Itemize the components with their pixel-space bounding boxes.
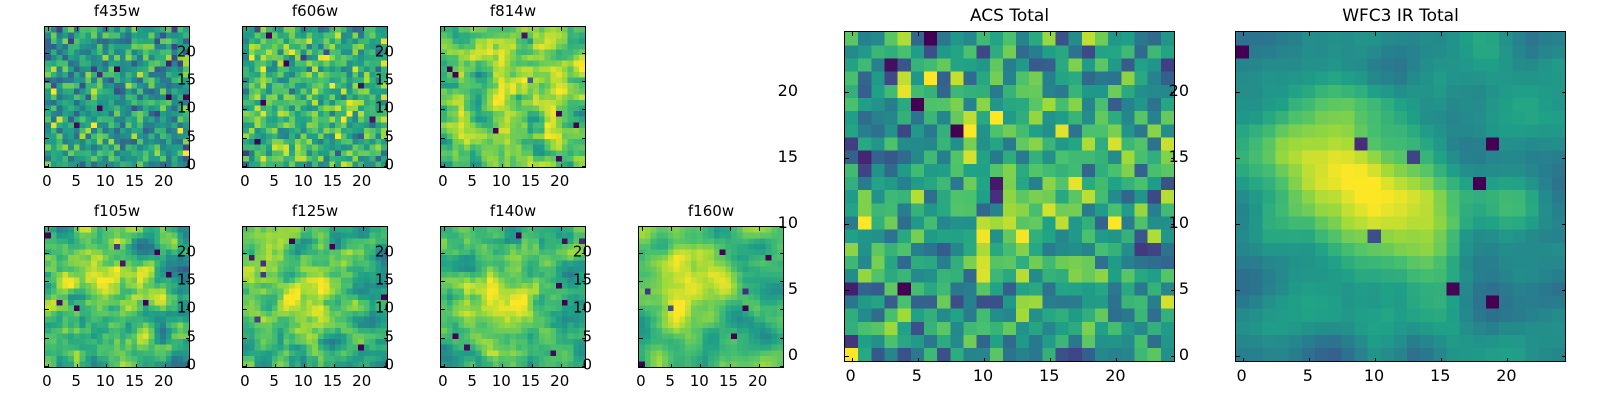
x-tick-mark bbox=[275, 227, 276, 231]
y-tick-label: 5 bbox=[1155, 281, 1189, 297]
y-tick-label: 20 bbox=[558, 244, 592, 259]
x-tick-mark bbox=[1243, 32, 1244, 36]
y-tick-mark bbox=[441, 281, 445, 282]
y-tick-mark bbox=[582, 53, 586, 54]
y-tick-mark bbox=[780, 366, 784, 367]
y-tick-mark bbox=[45, 366, 49, 367]
y-tick-mark bbox=[441, 138, 445, 139]
y-tick-label: 20 bbox=[1155, 83, 1189, 99]
x-tick-mark bbox=[473, 227, 474, 231]
x-tick-label: 15 bbox=[719, 374, 738, 389]
y-tick-label: 10 bbox=[558, 301, 592, 316]
y-tick-mark bbox=[780, 253, 784, 254]
y-tick-label: 20 bbox=[360, 44, 394, 59]
x-tick-label: 0 bbox=[846, 368, 856, 384]
x-tick-mark bbox=[502, 364, 503, 368]
x-tick-mark bbox=[275, 164, 276, 168]
plot-area-f814w bbox=[440, 26, 586, 168]
x-tick-label: 15 bbox=[323, 374, 342, 389]
x-tick-mark bbox=[532, 364, 533, 368]
y-tick-mark bbox=[45, 281, 49, 282]
y-tick-label: 0 bbox=[162, 158, 196, 173]
x-tick-label: 15 bbox=[1039, 368, 1059, 384]
y-tick-label: 0 bbox=[1155, 347, 1189, 363]
x-tick-label: 15 bbox=[125, 374, 144, 389]
panel-title-f125w: f125w bbox=[242, 204, 388, 219]
y-tick-label: 15 bbox=[1155, 149, 1189, 165]
y-tick-label: 10 bbox=[162, 101, 196, 116]
x-tick-mark bbox=[363, 27, 364, 31]
y-tick-label: 20 bbox=[162, 44, 196, 59]
x-tick-mark bbox=[1441, 358, 1442, 362]
x-tick-mark bbox=[532, 27, 533, 31]
panel-title-f105w: f105w bbox=[44, 204, 190, 219]
x-tick-mark bbox=[77, 364, 78, 368]
x-tick-mark bbox=[700, 227, 701, 231]
x-tick-mark bbox=[1050, 358, 1051, 362]
x-tick-label: 5 bbox=[71, 374, 81, 389]
x-tick-label: 20 bbox=[154, 374, 173, 389]
y-tick-label: 0 bbox=[360, 158, 394, 173]
y-tick-mark bbox=[780, 309, 784, 310]
x-tick-mark bbox=[304, 227, 305, 231]
x-tick-mark bbox=[561, 164, 562, 168]
x-tick-mark bbox=[532, 164, 533, 168]
x-tick-mark bbox=[1309, 358, 1310, 362]
y-tick-mark bbox=[243, 366, 247, 367]
y-tick-label: 0 bbox=[162, 358, 196, 373]
x-tick-mark bbox=[165, 227, 166, 231]
y-tick-mark bbox=[243, 166, 247, 167]
x-tick-mark bbox=[363, 227, 364, 231]
x-tick-label: 0 bbox=[240, 374, 250, 389]
y-tick-label: 10 bbox=[162, 301, 196, 316]
panel-title-f160w: f160w bbox=[638, 204, 784, 219]
y-tick-mark bbox=[441, 166, 445, 167]
x-tick-mark bbox=[700, 364, 701, 368]
panel-wfc3-ir-total: WFC3 IR Total0510152005101520 bbox=[1195, 7, 1566, 384]
x-tick-label: 0 bbox=[1237, 368, 1247, 384]
x-tick-mark bbox=[106, 27, 107, 31]
x-tick-mark bbox=[246, 227, 247, 231]
x-tick-label: 5 bbox=[665, 374, 675, 389]
x-tick-mark bbox=[473, 27, 474, 31]
heatmap-image-wfc3-ir-total bbox=[1236, 32, 1565, 361]
x-tick-mark bbox=[671, 364, 672, 368]
x-tick-mark bbox=[1243, 358, 1244, 362]
y-tick-mark bbox=[845, 224, 849, 225]
x-tick-mark bbox=[1050, 32, 1051, 36]
y-tick-mark bbox=[45, 309, 49, 310]
x-tick-label: 5 bbox=[269, 374, 279, 389]
x-tick-label: 0 bbox=[438, 174, 448, 189]
x-tick-mark bbox=[730, 227, 731, 231]
panel-title-f814w: f814w bbox=[440, 4, 586, 19]
y-tick-label: 10 bbox=[360, 301, 394, 316]
y-tick-mark bbox=[780, 338, 784, 339]
y-tick-mark bbox=[45, 81, 49, 82]
y-tick-mark bbox=[639, 366, 643, 367]
plot-area-acs-total bbox=[844, 31, 1175, 362]
y-tick-mark bbox=[582, 81, 586, 82]
x-tick-mark bbox=[1309, 32, 1310, 36]
x-tick-mark bbox=[730, 364, 731, 368]
y-tick-label: 15 bbox=[558, 272, 592, 287]
y-tick-mark bbox=[243, 281, 247, 282]
x-tick-label: 0 bbox=[240, 174, 250, 189]
panel-title-f606w: f606w bbox=[242, 4, 388, 19]
heatmap-image-acs-total bbox=[845, 32, 1174, 361]
y-tick-mark bbox=[243, 138, 247, 139]
x-tick-label: 10 bbox=[96, 174, 115, 189]
y-tick-label: 0 bbox=[764, 347, 798, 363]
x-tick-label: 10 bbox=[492, 374, 511, 389]
x-tick-label: 0 bbox=[42, 174, 52, 189]
x-tick-label: 10 bbox=[973, 368, 993, 384]
y-tick-mark bbox=[45, 138, 49, 139]
y-tick-mark bbox=[845, 158, 849, 159]
x-tick-mark bbox=[984, 32, 985, 36]
x-tick-mark bbox=[473, 364, 474, 368]
x-tick-label: 10 bbox=[492, 174, 511, 189]
x-tick-mark bbox=[984, 358, 985, 362]
y-tick-mark bbox=[441, 309, 445, 310]
x-tick-mark bbox=[275, 364, 276, 368]
x-tick-mark bbox=[1116, 32, 1117, 36]
figure-canvas: f435w0510152005101520f606w05101520051015… bbox=[0, 0, 1600, 400]
x-tick-mark bbox=[444, 227, 445, 231]
x-tick-mark bbox=[48, 27, 49, 31]
y-tick-mark bbox=[45, 109, 49, 110]
x-tick-label: 20 bbox=[1105, 368, 1125, 384]
y-tick-mark bbox=[45, 338, 49, 339]
x-tick-mark bbox=[642, 227, 643, 231]
x-tick-label: 5 bbox=[1303, 368, 1313, 384]
y-tick-label: 15 bbox=[360, 272, 394, 287]
heatmap-image-f814w bbox=[441, 27, 585, 167]
y-tick-mark bbox=[639, 309, 643, 310]
y-tick-mark bbox=[441, 338, 445, 339]
x-tick-mark bbox=[671, 227, 672, 231]
y-tick-label: 15 bbox=[162, 272, 196, 287]
x-tick-label: 15 bbox=[125, 174, 144, 189]
x-tick-mark bbox=[246, 27, 247, 31]
y-tick-mark bbox=[639, 253, 643, 254]
y-tick-label: 5 bbox=[360, 129, 394, 144]
y-tick-label: 20 bbox=[360, 244, 394, 259]
panel-acs-total: ACS Total0510152005101520 bbox=[804, 7, 1175, 384]
y-tick-mark bbox=[243, 253, 247, 254]
y-tick-mark bbox=[441, 81, 445, 82]
y-tick-mark bbox=[441, 253, 445, 254]
x-tick-label: 10 bbox=[1364, 368, 1384, 384]
y-tick-mark bbox=[1236, 356, 1240, 357]
x-tick-mark bbox=[1116, 358, 1117, 362]
x-tick-mark bbox=[1507, 358, 1508, 362]
x-tick-mark bbox=[304, 364, 305, 368]
x-tick-label: 10 bbox=[690, 374, 709, 389]
x-tick-mark bbox=[561, 27, 562, 31]
x-tick-label: 10 bbox=[96, 374, 115, 389]
y-tick-mark bbox=[243, 81, 247, 82]
x-tick-mark bbox=[852, 32, 853, 36]
x-tick-mark bbox=[334, 27, 335, 31]
panel-title-wfc3-ir-total: WFC3 IR Total bbox=[1235, 9, 1566, 24]
panel-f814w: f814w0510152005101520 bbox=[400, 2, 586, 190]
y-tick-mark bbox=[1562, 92, 1566, 93]
y-tick-mark bbox=[243, 338, 247, 339]
y-tick-label: 5 bbox=[162, 129, 196, 144]
y-tick-mark bbox=[845, 92, 849, 93]
plot-area-f160w bbox=[638, 226, 784, 368]
panel-title-f140w: f140w bbox=[440, 204, 586, 219]
y-tick-label: 0 bbox=[558, 358, 592, 373]
y-tick-label: 20 bbox=[162, 244, 196, 259]
x-tick-mark bbox=[1375, 358, 1376, 362]
x-tick-mark bbox=[473, 164, 474, 168]
y-tick-mark bbox=[45, 166, 49, 167]
x-tick-mark bbox=[106, 164, 107, 168]
x-tick-mark bbox=[852, 358, 853, 362]
heatmap-image-f160w bbox=[639, 227, 783, 367]
x-tick-label: 0 bbox=[42, 374, 52, 389]
y-tick-mark bbox=[1236, 290, 1240, 291]
x-tick-label: 20 bbox=[550, 374, 569, 389]
x-tick-label: 0 bbox=[438, 374, 448, 389]
x-tick-mark bbox=[77, 27, 78, 31]
y-tick-label: 5 bbox=[764, 281, 798, 297]
y-tick-mark bbox=[45, 53, 49, 54]
x-tick-mark bbox=[136, 164, 137, 168]
y-tick-mark bbox=[582, 166, 586, 167]
y-tick-mark bbox=[1236, 158, 1240, 159]
x-tick-mark bbox=[1507, 32, 1508, 36]
y-tick-label: 10 bbox=[360, 101, 394, 116]
x-tick-mark bbox=[561, 227, 562, 231]
y-tick-label: 5 bbox=[360, 329, 394, 344]
y-tick-mark bbox=[1562, 356, 1566, 357]
x-tick-label: 20 bbox=[352, 174, 371, 189]
x-tick-label: 5 bbox=[912, 368, 922, 384]
x-tick-mark bbox=[304, 27, 305, 31]
x-tick-label: 20 bbox=[352, 374, 371, 389]
x-tick-mark bbox=[1375, 32, 1376, 36]
y-tick-mark bbox=[1236, 224, 1240, 225]
x-tick-label: 10 bbox=[294, 174, 313, 189]
x-tick-label: 5 bbox=[71, 174, 81, 189]
y-tick-mark bbox=[845, 290, 849, 291]
x-tick-label: 15 bbox=[521, 374, 540, 389]
x-tick-mark bbox=[502, 164, 503, 168]
x-tick-mark bbox=[77, 227, 78, 231]
y-tick-mark bbox=[639, 281, 643, 282]
y-tick-mark bbox=[582, 138, 586, 139]
plot-area-wfc3-ir-total bbox=[1235, 31, 1566, 362]
x-tick-mark bbox=[106, 227, 107, 231]
y-tick-label: 15 bbox=[360, 72, 394, 87]
y-tick-mark bbox=[441, 53, 445, 54]
x-tick-mark bbox=[304, 164, 305, 168]
y-tick-label: 10 bbox=[1155, 215, 1189, 231]
y-tick-label: 5 bbox=[162, 329, 196, 344]
x-tick-mark bbox=[334, 227, 335, 231]
y-tick-mark bbox=[1562, 158, 1566, 159]
y-tick-mark bbox=[441, 109, 445, 110]
x-tick-mark bbox=[334, 164, 335, 168]
x-tick-label: 15 bbox=[1430, 368, 1450, 384]
x-tick-mark bbox=[275, 27, 276, 31]
y-tick-mark bbox=[243, 309, 247, 310]
x-tick-mark bbox=[165, 27, 166, 31]
x-tick-label: 20 bbox=[1496, 368, 1516, 384]
x-tick-label: 5 bbox=[269, 174, 279, 189]
x-tick-label: 20 bbox=[154, 174, 173, 189]
y-tick-label: 15 bbox=[764, 149, 798, 165]
x-tick-mark bbox=[759, 227, 760, 231]
x-tick-mark bbox=[77, 164, 78, 168]
x-tick-label: 5 bbox=[467, 174, 477, 189]
x-tick-label: 5 bbox=[467, 374, 477, 389]
x-tick-mark bbox=[1441, 32, 1442, 36]
x-tick-mark bbox=[334, 364, 335, 368]
y-tick-label: 20 bbox=[764, 83, 798, 99]
x-tick-mark bbox=[136, 227, 137, 231]
panel-title-f435w: f435w bbox=[44, 4, 190, 19]
y-tick-mark bbox=[45, 253, 49, 254]
x-tick-label: 20 bbox=[550, 174, 569, 189]
x-tick-mark bbox=[136, 27, 137, 31]
x-tick-mark bbox=[502, 227, 503, 231]
x-tick-label: 20 bbox=[748, 374, 767, 389]
x-tick-mark bbox=[759, 364, 760, 368]
panel-title-acs-total: ACS Total bbox=[844, 9, 1175, 24]
x-tick-mark bbox=[918, 358, 919, 362]
y-tick-mark bbox=[1236, 92, 1240, 93]
x-tick-label: 15 bbox=[323, 174, 342, 189]
panel-f160w: f160w0510152005101520 bbox=[598, 202, 784, 390]
y-tick-mark bbox=[441, 366, 445, 367]
y-tick-label: 5 bbox=[558, 329, 592, 344]
y-tick-label: 10 bbox=[764, 215, 798, 231]
y-tick-mark bbox=[1562, 224, 1566, 225]
y-tick-mark bbox=[243, 53, 247, 54]
y-tick-mark bbox=[845, 356, 849, 357]
x-tick-mark bbox=[502, 27, 503, 31]
y-tick-mark bbox=[243, 109, 247, 110]
x-tick-label: 10 bbox=[294, 374, 313, 389]
y-tick-label: 0 bbox=[360, 358, 394, 373]
y-tick-mark bbox=[639, 338, 643, 339]
x-tick-mark bbox=[106, 364, 107, 368]
x-tick-mark bbox=[136, 364, 137, 368]
y-tick-label: 15 bbox=[162, 72, 196, 87]
x-tick-label: 15 bbox=[521, 174, 540, 189]
x-tick-mark bbox=[48, 227, 49, 231]
x-tick-mark bbox=[532, 227, 533, 231]
y-tick-mark bbox=[1562, 290, 1566, 291]
x-tick-mark bbox=[918, 32, 919, 36]
y-tick-mark bbox=[582, 109, 586, 110]
x-tick-label: 0 bbox=[636, 374, 646, 389]
x-tick-mark bbox=[444, 27, 445, 31]
